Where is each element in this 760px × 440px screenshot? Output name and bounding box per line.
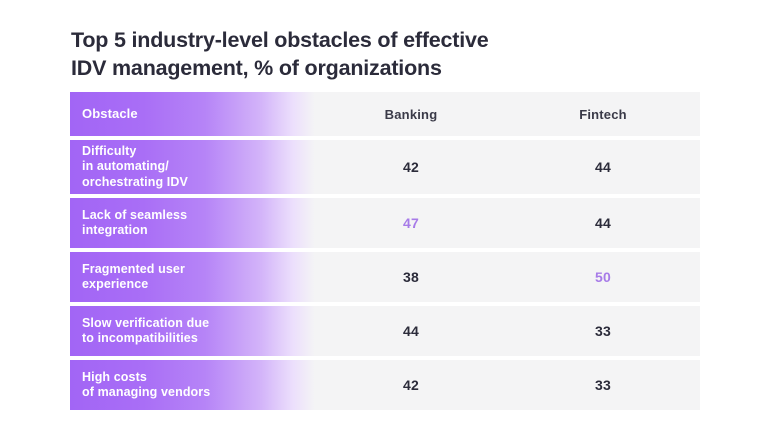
column-header-banking: Banking <box>315 107 507 122</box>
table-header-row: Obstacle Banking Fintech <box>70 92 700 136</box>
banking-value: 42 <box>315 377 507 393</box>
obstacle-label: Fragmented user experience <box>70 262 315 293</box>
fintech-value: 44 <box>507 159 699 175</box>
banking-value: 47 <box>315 215 507 231</box>
table-row: Fragmented user experience 38 50 <box>70 252 700 302</box>
slide-canvas: Top 5 industry-level obstacles of effect… <box>0 0 760 440</box>
banking-value: 44 <box>315 323 507 339</box>
column-header-fintech: Fintech <box>507 107 699 122</box>
table-row: Slow verification due to incompatibiliti… <box>70 306 700 356</box>
obstacles-table: Obstacle Banking Fintech Difficulty in a… <box>70 92 700 410</box>
obstacle-label: Lack of seamless integration <box>70 208 315 239</box>
fintech-value: 33 <box>507 377 699 393</box>
obstacle-label: Difficulty in automating/ orchestrating … <box>70 144 315 191</box>
fintech-value: 50 <box>507 269 699 285</box>
fintech-value: 44 <box>507 215 699 231</box>
column-header-obstacle: Obstacle <box>70 106 315 122</box>
table-row: High costs of managing vendors 42 33 <box>70 360 700 410</box>
table-row: Difficulty in automating/ orchestrating … <box>70 140 700 194</box>
banking-value: 42 <box>315 159 507 175</box>
page-title: Top 5 industry-level obstacles of effect… <box>71 26 671 82</box>
obstacle-label: High costs of managing vendors <box>70 370 315 401</box>
obstacle-label: Slow verification due to incompatibiliti… <box>70 316 315 347</box>
table-row: Lack of seamless integration 47 44 <box>70 198 700 248</box>
fintech-value: 33 <box>507 323 699 339</box>
banking-value: 38 <box>315 269 507 285</box>
